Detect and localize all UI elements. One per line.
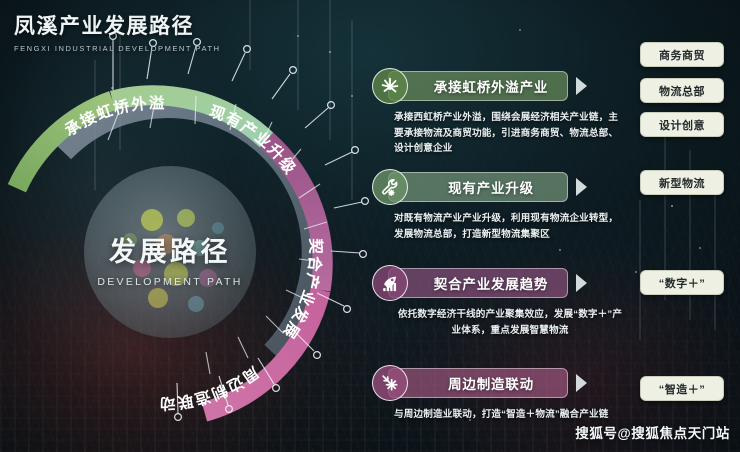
converge-arrow-icon (372, 365, 408, 401)
page-title: 凤溪产业发展路径 (14, 10, 221, 40)
card-item-3[interactable]: 契合产业发展趋势 依托数字经济干线 (368, 263, 636, 338)
page-header: 凤溪产业发展路径 FENGXI INDUSTRIAL DEVELOPMENT P… (14, 10, 221, 53)
tag-item-5[interactable]: “数字＋” (640, 270, 724, 295)
card-arrow-3[interactable] (576, 274, 587, 292)
arc-label-2: 现有产业升级 (207, 102, 301, 178)
tag-label-6: “智造＋” (659, 381, 706, 397)
arc-label-2-text: 现有产业升级 (207, 102, 301, 178)
card-arrow-4[interactable] (576, 374, 587, 392)
tag-label-3: 设计创意 (659, 117, 705, 133)
card-title-4: 周边制造联动 (448, 373, 534, 393)
card-header-1[interactable]: 承接虹桥外溢产业 (368, 66, 636, 106)
card-list: 承接虹桥外溢产业 (368, 0, 638, 452)
tag-item-3[interactable]: 设计创意 (640, 112, 724, 137)
tag-label-5: “数字＋” (659, 275, 706, 291)
wrench-icon (372, 169, 408, 205)
card-arrow-2[interactable] (576, 178, 587, 196)
card-title-1: 承接虹桥外溢产业 (434, 76, 548, 96)
card-pill-2[interactable]: 现有产业升级 (388, 172, 568, 202)
card-item-2[interactable]: 现有产业升级 对既有物流产业产业升级，利用现有物流企业转型， (368, 167, 636, 242)
card-body-3: 依托数字经济干线的产业聚集效应，发展“数字＋”产业体系，重点发展智慧物流 (394, 307, 626, 338)
card-pill-1[interactable]: 承接虹桥外溢产业 (388, 71, 568, 101)
burst-icon (372, 68, 408, 104)
card-body-2: 对既有物流产业产业升级，利用现有物流企业转型，发展物流总部，打造新型物流集聚区 (394, 211, 626, 242)
rocket-growth-icon (372, 265, 408, 301)
arc-diagram: 承接虹桥外溢 现有产业升级 契合产业发展 周边制造联动 发展路径 DEVELOP… (0, 22, 400, 452)
card-pill-4[interactable]: 周边制造联动 (388, 368, 568, 398)
tag-label-4: 新型物流 (659, 175, 705, 191)
tag-label-1: 商务商贸 (659, 47, 705, 63)
card-header-4[interactable]: 周边制造联动 (368, 363, 636, 403)
card-title-2: 现有产业升级 (448, 177, 534, 197)
card-pill-3[interactable]: 契合产业发展趋势 (388, 268, 568, 298)
tag-list: 商务商贸 物流总部 设计创意 新型物流 “数字＋” “智造＋” (640, 0, 740, 452)
card-header-3[interactable]: 契合产业发展趋势 (368, 263, 636, 303)
card-body-4: 与周边制造业联动，打造“智造＋物流”融合产业链 (394, 407, 626, 423)
card-item-1[interactable]: 承接虹桥外溢产业 (368, 66, 636, 157)
infographic-stage: 凤溪产业发展路径 FENGXI INDUSTRIAL DEVELOPMENT P… (0, 0, 740, 452)
card-header-2[interactable]: 现有产业升级 (368, 167, 636, 207)
watermark: 搜狐号@搜狐焦点天门站 (575, 422, 730, 442)
tag-item-6[interactable]: “智造＋” (640, 376, 724, 401)
card-title-3: 契合产业发展趋势 (434, 273, 548, 293)
tag-label-2: 物流总部 (659, 83, 705, 99)
card-arrow-1[interactable] (576, 77, 587, 95)
card-body-1: 承接西虹桥产业外溢，围绕会展经济相关产业链，主要承接物流及商贸功能，引进商务商贸… (394, 110, 626, 157)
page-subtitle: FENGXI INDUSTRIAL DEVELOPMENT PATH (14, 44, 221, 53)
tag-item-4[interactable]: 新型物流 (640, 170, 724, 195)
tag-item-1[interactable]: 商务商贸 (640, 42, 724, 67)
card-item-4[interactable]: 周边制造联动 (368, 363, 636, 423)
tag-item-2[interactable]: 物流总部 (640, 78, 724, 103)
